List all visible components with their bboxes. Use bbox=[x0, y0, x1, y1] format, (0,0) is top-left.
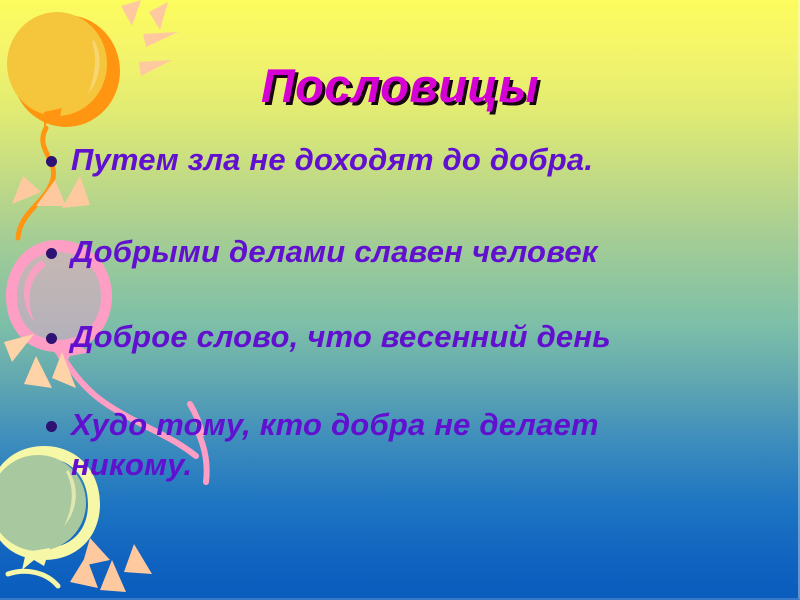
confetti-triangle bbox=[143, 32, 178, 47]
list-item-label: Худо тому, кто добра не делает никому. bbox=[71, 405, 671, 486]
list-item-label: Доброе слово, что весенний день bbox=[71, 317, 611, 357]
confetti-triangle bbox=[100, 560, 126, 592]
bullet-dot-icon bbox=[46, 156, 57, 167]
slide-title: Пословицы bbox=[0, 58, 800, 113]
confetti-triangle bbox=[124, 544, 152, 574]
confetti-triangle bbox=[12, 176, 41, 204]
list-item-label: Путем зла не доходят до добра. bbox=[71, 140, 593, 180]
confetti-triangle bbox=[82, 538, 110, 566]
bullet-dot-icon bbox=[46, 248, 57, 259]
list-item-label: Добрыми делами славен человек bbox=[71, 232, 598, 272]
yellow-balloon-string bbox=[8, 571, 58, 586]
bullet-dot-icon bbox=[46, 421, 57, 432]
confetti-streaks-bottom bbox=[70, 538, 152, 592]
list-item: Доброе слово, что весенний день bbox=[46, 317, 766, 357]
list-item: Путем зла не доходят до добра. bbox=[46, 140, 766, 180]
presentation-slide: Пословицы Путем зла не доходят до добра.… bbox=[0, 0, 800, 600]
list-item: Добрыми делами славен человек bbox=[46, 232, 766, 272]
bullet-list: Путем зла не доходят до добра. Добрыми д… bbox=[46, 140, 766, 485]
list-item: Худо тому, кто добра не делает никому. bbox=[46, 405, 766, 486]
confetti-triangle bbox=[70, 556, 98, 588]
pink-balloon-highlight bbox=[24, 260, 46, 322]
confetti-triangle bbox=[121, 0, 141, 26]
confetti-triangle bbox=[4, 334, 34, 362]
yellow-balloon-knot bbox=[22, 548, 50, 570]
bullet-dot-icon bbox=[46, 333, 57, 344]
confetti-triangle bbox=[149, 2, 168, 30]
